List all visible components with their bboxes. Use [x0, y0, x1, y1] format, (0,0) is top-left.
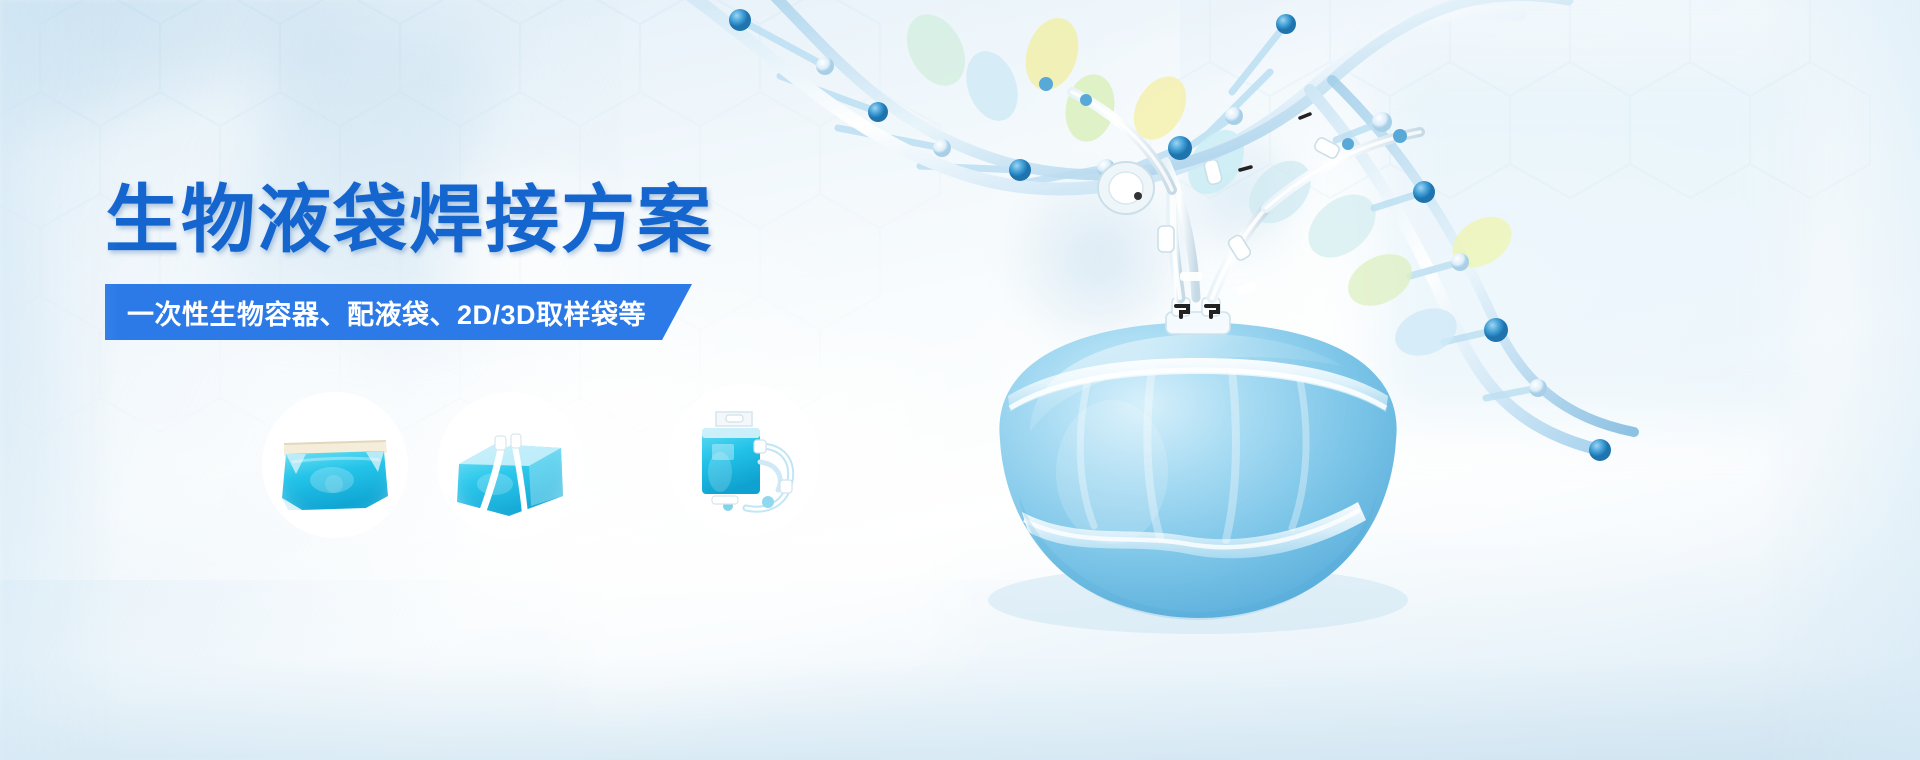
subtitle-bar-shape: 一次性生物容器、配液袋、2D/3D取样袋等 — [105, 284, 692, 340]
product-thumbnail-3d-bag — [437, 392, 583, 538]
product-thumbnail-sampling-bag — [668, 384, 820, 536]
flat-liquid-bag-icon — [262, 392, 408, 538]
3d-mixing-bag-icon — [437, 392, 583, 538]
page-title: 生物液袋焊接方案 — [105, 183, 713, 257]
promo-banner: 生物液袋焊接方案 一次性生物容器、配液袋、2D/3D取样袋等 — [0, 0, 1920, 760]
subtitle-banner: 一次性生物容器、配液袋、2D/3D取样袋等 — [105, 284, 692, 340]
product-thumbnail-2d-bag — [262, 392, 408, 538]
subtitle-text: 一次性生物容器、配液袋、2D/3D取样袋等 — [127, 293, 646, 332]
hexagon-pattern-icon — [1150, 0, 1920, 460]
sampling-bag-icon — [668, 384, 820, 536]
